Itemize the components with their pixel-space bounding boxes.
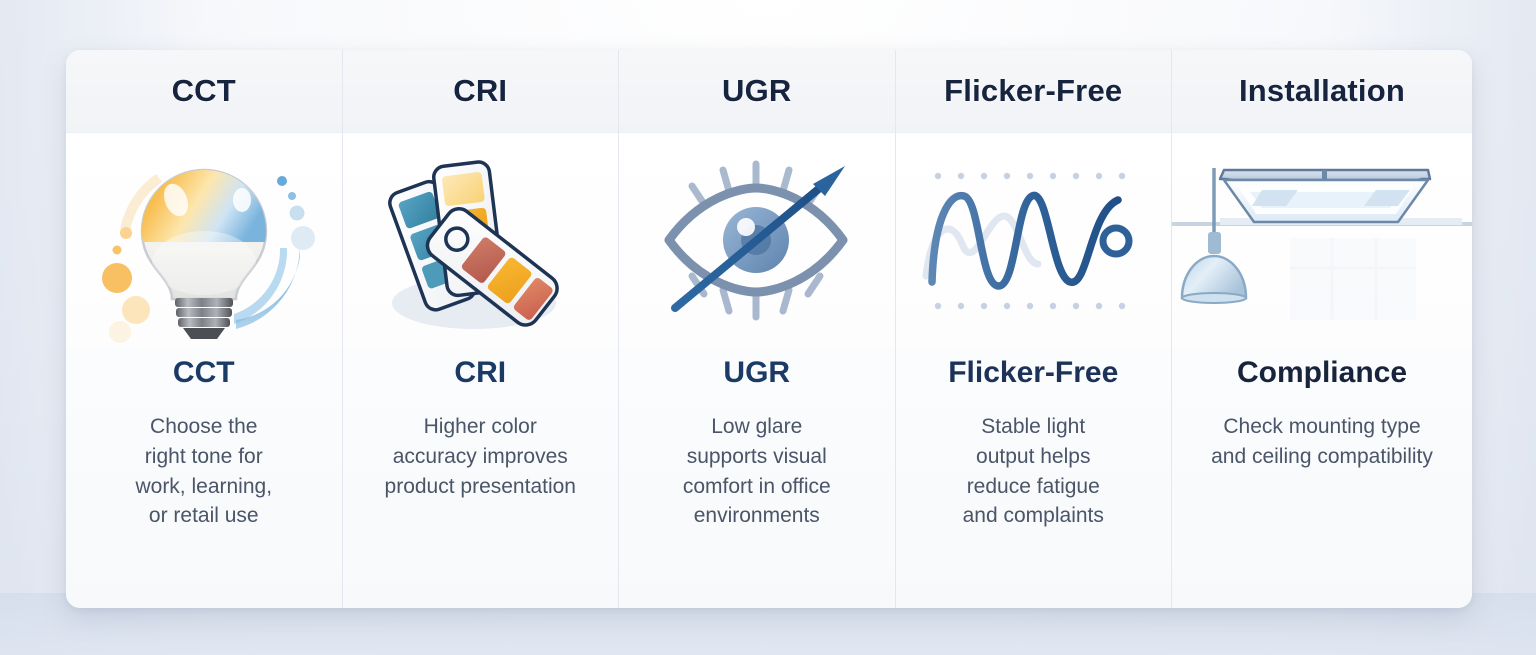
eye-highlight — [737, 218, 755, 236]
card-header-ugr: UGR — [619, 50, 895, 133]
card-installation[interactable]: Installation — [1172, 50, 1472, 608]
card-body-flicker-free: Flicker-Free Stable light output helps r… — [896, 348, 1172, 608]
icon-container-installation — [1172, 133, 1472, 348]
card-cri[interactable]: CRI — [343, 50, 620, 608]
dot-row-top — [935, 172, 1125, 178]
lightbulb-color-temperature-icon — [84, 138, 324, 343]
card-header-cri: CRI — [343, 50, 619, 133]
card-label: Flicker-Free — [948, 356, 1118, 390]
card-body-cct: CCT Choose the right tone for work, lear… — [66, 348, 342, 608]
card-description: Stable light output helps reduce fatigue… — [963, 412, 1104, 531]
eye-glare-slash-icon — [649, 148, 864, 333]
warm-dot — [109, 321, 131, 343]
card-cct[interactable]: CCT — [66, 50, 343, 608]
warm-dot — [102, 263, 132, 293]
bulb-cap — [175, 298, 233, 307]
card-ugr[interactable]: UGR — [619, 50, 896, 608]
card-header-flicker-free: Flicker-Free — [896, 50, 1172, 133]
ceiling-panel-pendant-light-icon — [1172, 146, 1472, 336]
card-title: Flicker-Free — [944, 73, 1122, 109]
card-label: Compliance — [1237, 356, 1407, 390]
card-title: UGR — [722, 73, 792, 109]
card-header-cct: CCT — [66, 50, 342, 133]
card-title: CCT — [172, 73, 236, 109]
cool-dot — [289, 206, 304, 221]
card-header-installation: Installation — [1172, 50, 1472, 133]
card-title: CRI — [453, 73, 507, 109]
card-flicker-free[interactable]: Flicker-Free — [896, 50, 1173, 608]
card-body-cri: CRI Higher color accuracy improves produ… — [343, 348, 619, 608]
dot-row-bottom — [935, 302, 1125, 308]
icon-container-ugr — [619, 133, 895, 348]
color-swatch-fan-icon — [370, 143, 590, 338]
card-body-installation: Compliance Check mounting type and ceili… — [1172, 348, 1472, 608]
icon-container-cct — [66, 133, 342, 348]
cool-dot — [291, 226, 315, 250]
card-label: UGR — [723, 356, 790, 390]
card-description: Choose the right tone for work, learning… — [135, 412, 272, 531]
card-title: Installation — [1239, 73, 1405, 109]
cool-dot — [288, 192, 296, 200]
warm-dot — [122, 296, 150, 324]
icon-container-cri — [343, 133, 619, 348]
card-label: CCT — [173, 356, 235, 390]
card-description: Check mounting type and ceiling compatib… — [1211, 412, 1433, 472]
ceiling-panel-light — [1220, 170, 1430, 222]
card-description: Higher color accuracy improves product p… — [385, 412, 576, 501]
feature-card-panel: CCT — [66, 50, 1472, 608]
warm-dot — [112, 246, 121, 255]
card-body-ugr: UGR Low glare supports visual comfort in… — [619, 348, 895, 608]
background-wall — [1290, 238, 1416, 320]
waveform-flat-line-icon — [918, 166, 1148, 316]
wave-end-node — [1103, 228, 1129, 254]
icon-container-flicker-free — [896, 133, 1172, 348]
card-label: CRI — [454, 356, 506, 390]
cool-dot — [277, 176, 287, 186]
card-description: Low glare supports visual comfort in off… — [683, 412, 831, 531]
